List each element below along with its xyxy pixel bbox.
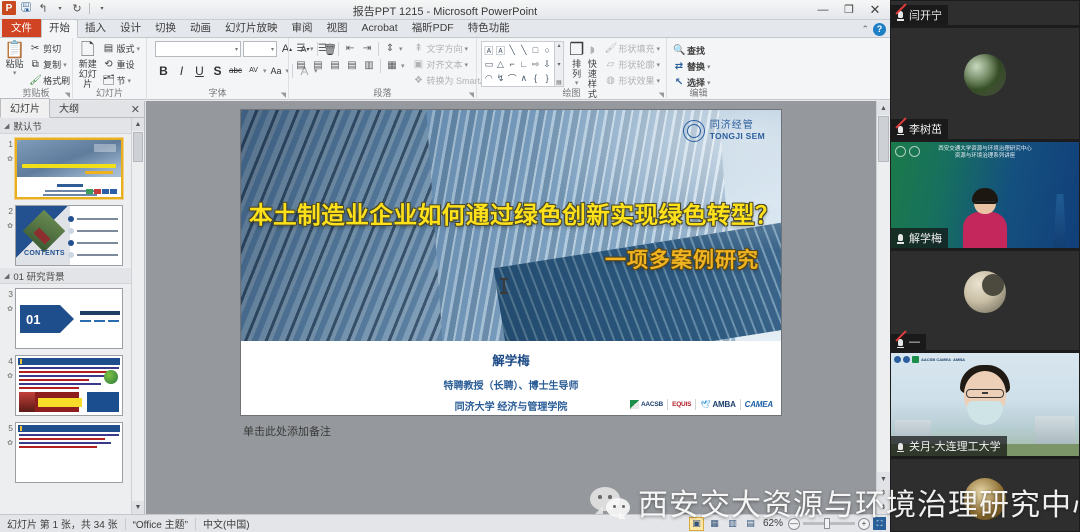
bullets-dropdown-icon[interactable]: ▾: [310, 45, 314, 53]
shapes-gallery[interactable]: 🄰 🄰 ╲ ╲ □ ○ ▭ △ ⌐ ∟ ⇨ ⇩ ◠: [481, 41, 555, 87]
slide-star-icon: ✿: [7, 439, 13, 447]
camea-logo: CAMEA: [745, 400, 773, 409]
paragraph-group-label: 段落: [289, 86, 476, 99]
slide-canvas[interactable]: 同济经管 TONGJI SEM 本土制造业企业如何通过绿色创新实现绿色转型？ 一…: [241, 110, 781, 415]
ribbon-group-drawing: 🄰 🄰 ╲ ╲ □ ○ ▭ △ ⌐ ∟ ⇨ ⇩ ◠: [476, 38, 666, 100]
microphone-muted-icon: [895, 336, 906, 348]
numbering-dropdown-icon[interactable]: ▾: [332, 45, 336, 53]
increase-indent-button[interactable]: ⇥: [359, 41, 375, 56]
slide-subtitle[interactable]: 一项多案例研究: [605, 244, 759, 274]
title-bar: P 🖫 ↰ ▾ ↻ ▾ 报告PPT 1215 - Microsoft Power…: [0, 0, 890, 20]
powerpoint-window: P 🖫 ↰ ▾ ↻ ▾ 报告PPT 1215 - Microsoft Power…: [0, 0, 890, 532]
status-bar: 幻灯片 第 1 张，共 34 张 “Office 主题” 中文(中国) ▣ ▦ …: [0, 514, 890, 532]
font-size-input[interactable]: ▾: [243, 41, 277, 57]
slideshow-icon[interactable]: ▤: [743, 517, 758, 531]
new-slide-icon: 🗋: [81, 41, 95, 59]
reset-label: 重设: [116, 58, 134, 71]
reading-view-icon[interactable]: ▥: [725, 517, 740, 531]
tongji-sem-logo: 同济经管 TONGJI SEM: [683, 120, 765, 142]
find-label: 查找: [687, 44, 705, 57]
replace-button[interactable]: ⇄ 替换 ▾: [671, 59, 713, 74]
stage-line-2: 资源与环境治理系列讲座: [891, 153, 1079, 160]
participant-tile-5[interactable]: AACSB CAMEA AMBA 关月-大连理工大学: [891, 353, 1079, 456]
change-case-button[interactable]: Aa: [268, 62, 285, 79]
slide-thumbnail-1[interactable]: [15, 138, 123, 199]
thumbnail-row[interactable]: 1✿: [0, 134, 131, 201]
font-name-input[interactable]: ▾: [155, 41, 241, 57]
decrease-indent-button[interactable]: ⇤: [342, 41, 358, 56]
participant-nameplate: 李树茁: [891, 119, 948, 139]
columns-button[interactable]: ▦: [384, 58, 400, 73]
participant-tile-3[interactable]: 西安交通大学资源与环境治理研究中心 资源与环境治理系列讲座 解学梅: [891, 142, 1079, 247]
tongji-logo-en: TONGJI SEM: [710, 132, 765, 141]
notes-placeholder[interactable]: 单击此处添加备注: [241, 420, 781, 442]
aacsb-logo: AACSB: [630, 400, 663, 409]
thumb-portrait: [19, 392, 35, 412]
thumb-title-bar: [22, 164, 116, 168]
thumb-body: [19, 434, 119, 479]
ribbon-group-editing: 🔍 查找 ⇄ 替换 ▾ ↖ 选择 ▾: [666, 38, 730, 100]
logo-badge-2: [903, 356, 910, 363]
tab-transitions[interactable]: 切换: [148, 20, 183, 37]
participant-nameplate: 解学梅: [891, 228, 948, 248]
section-name: 01 研究背景: [13, 269, 64, 283]
tab-design[interactable]: 设计: [113, 20, 148, 37]
quick-styles-icon: ◗: [587, 41, 597, 59]
minimize-button[interactable]: —: [810, 0, 836, 19]
thumb-bg: CONTENTS: [16, 206, 122, 265]
presenter-name[interactable]: 解学梅: [241, 350, 781, 369]
microphone-active-icon: [895, 232, 906, 244]
character-spacing-button[interactable]: AV: [245, 62, 262, 79]
replace-label: 替换: [687, 60, 705, 73]
thumb-line-2: [43, 194, 97, 196]
shape-elbow-arrow-icon[interactable]: ∟: [518, 57, 530, 71]
tab-home[interactable]: 开始: [41, 19, 78, 38]
microphone-muted-icon: [895, 123, 906, 135]
thumb-items: [68, 216, 118, 258]
ribbon-group-clipboard: 📋 粘贴 ▾ ✂ 剪切 ⧉ 复制 ▾: [0, 38, 72, 100]
slides-group-label: 幻灯片: [73, 86, 146, 99]
slide-pane-scrollbar[interactable]: ▲ ▼ ⇞ ⇟: [876, 101, 890, 514]
amba-label: AMBA: [712, 400, 735, 409]
drawing-dialog-launcher[interactable]: ◥: [659, 91, 664, 99]
equis-label: EQUIS: [672, 401, 691, 408]
language-status[interactable]: 中文(中国): [196, 515, 257, 532]
equis-logo: EQUIS: [672, 401, 691, 408]
participant-tile-6[interactable]: [891, 459, 1079, 531]
slide-title[interactable]: 本土制造业企业如何通过绿色创新实现绿色转型？: [249, 196, 773, 230]
window-title: 报告PPT 1215 - Microsoft PowerPoint: [0, 3, 890, 19]
outline-pane-tabs[interactable]: 幻灯片 大纲 ✕: [0, 101, 144, 118]
editing-group-label: 编辑: [667, 86, 730, 99]
thumb-heading: [80, 311, 120, 315]
aacsb-label: AACSB: [641, 401, 663, 408]
paste-dropdown-icon[interactable]: ▾: [13, 69, 17, 77]
close-button[interactable]: ✕: [862, 0, 888, 19]
slide-number: 4: [8, 356, 13, 366]
participant-tile-2[interactable]: 李树茁: [891, 28, 1079, 139]
ribbon-group-slides: 🗋 新建 幻灯片 ▤ 版式 ▾ ⟲ 重设: [72, 38, 146, 100]
copy-label: 复制: [43, 58, 61, 71]
thumbnail-pane-scrollbar[interactable]: ▲ ▼: [131, 118, 144, 514]
font-dialog-launcher[interactable]: ◥: [281, 91, 286, 99]
scrollbar-thumb[interactable]: [133, 132, 143, 162]
logo-divider: [695, 399, 696, 410]
cut-label: 剪切: [43, 42, 61, 55]
slide-edit-pane: 同济经管 TONGJI SEM 本土制造业企业如何通过绿色创新实现绿色转型？ 一…: [146, 101, 876, 514]
microphone-active-icon: [895, 440, 906, 452]
character-spacing-dropdown-icon[interactable]: ▾: [263, 67, 267, 75]
columns-dropdown-icon[interactable]: ▾: [401, 62, 405, 70]
participant-name: —: [909, 336, 920, 348]
amba-logo: 🕊 AMBA: [700, 400, 735, 409]
slide-number: 1: [8, 139, 13, 149]
shape-vertical-textbox-icon[interactable]: 🄰: [495, 43, 507, 57]
zoom-in-button[interactable]: +: [858, 518, 870, 530]
shape-left-brace-icon[interactable]: {: [530, 71, 542, 85]
ribbon: 📋 粘贴 ▾ ✂ 剪切 ⧉ 复制 ▾: [0, 38, 890, 100]
shapes-scroll-expand-icon[interactable]: ▤: [556, 79, 562, 86]
participant-name: 解学梅: [909, 230, 942, 246]
shape-rectangle-icon[interactable]: □: [530, 43, 542, 57]
section-header[interactable]: ◢ 默认节: [0, 118, 131, 134]
bold-button[interactable]: B: [155, 62, 172, 79]
copy-button[interactable]: ⧉ 复制 ▾: [27, 57, 72, 72]
participant-name: 李树茁: [909, 121, 942, 137]
logo-divider: [740, 399, 741, 410]
tab-slides-thumbnails[interactable]: 幻灯片: [0, 98, 50, 118]
next-slide-icon[interactable]: ⇟: [877, 500, 890, 514]
align-center-button[interactable]: ▤: [310, 58, 326, 73]
thumb-contents-label: CONTENTS: [24, 250, 65, 257]
aacsb-mark-icon: [630, 400, 639, 409]
align-right-button[interactable]: ▤: [327, 58, 343, 73]
reset-icon: ⟲: [102, 59, 114, 70]
slide-star-icon: ✿: [7, 155, 13, 163]
shape-line-icon[interactable]: ╲: [506, 43, 518, 57]
editor-area: 幻灯片 大纲 ✕ ◢ 默认节 1✿: [0, 101, 890, 514]
slide-number: 5: [8, 423, 13, 433]
slide-star-icon: ✿: [7, 305, 13, 313]
notes-pane[interactable]: 单击此处添加备注: [241, 420, 781, 446]
tab-insert[interactable]: 插入: [78, 20, 113, 37]
scroll-up-icon[interactable]: ▲: [132, 118, 144, 131]
shape-rounded-rect-icon[interactable]: ▭: [483, 57, 495, 71]
thumb-header-accent: [20, 426, 22, 431]
thumbnail-row[interactable]: 2✿ CONTENTS: [0, 201, 131, 268]
para-divider-2: [378, 42, 379, 56]
section-icon: 🗂: [102, 75, 114, 86]
shapes-scroll-more-icon[interactable]: ▾: [557, 61, 560, 68]
window-controls[interactable]: — ❐ ✕: [810, 0, 888, 20]
amba-bird-icon: 🕊: [700, 400, 710, 409]
justify-button[interactable]: ▤: [344, 58, 360, 73]
thumb-bg: [16, 356, 122, 415]
layout-icon: ▤: [102, 43, 114, 54]
new-slide-button[interactable]: 🗋 新建 幻灯片: [77, 41, 98, 89]
shape-elbow-connector-icon[interactable]: ⌐: [506, 57, 518, 71]
section-dropdown-icon[interactable]: ▾: [127, 77, 131, 85]
tab-acrobat[interactable]: Acrobat: [355, 20, 405, 37]
shape-textbox-icon[interactable]: 🄰: [483, 43, 495, 57]
slide-background-photo: 同济经管 TONGJI SEM 本土制造业企业如何通过绿色创新实现绿色转型？ 一…: [241, 110, 781, 341]
slide-thumbnail-pane: 幻灯片 大纲 ✕ ◢ 默认节 1✿: [0, 101, 145, 514]
thumbnail-row[interactable]: 5✿: [0, 418, 131, 485]
help-button[interactable]: ?: [873, 23, 886, 36]
logo-divider: [667, 399, 668, 410]
thumb-header-accent: [20, 359, 22, 364]
zoom-slider-thumb[interactable]: [824, 518, 830, 529]
scissors-icon: ✂: [29, 43, 41, 54]
tab-outline[interactable]: 大纲: [50, 99, 88, 117]
theme-status[interactable]: “Office 主题”: [126, 515, 195, 532]
paste-label: 粘贴: [6, 59, 24, 69]
align-text-label: 对齐文本: [427, 58, 463, 71]
shape-arrow-icon[interactable]: ╲: [518, 43, 530, 57]
layout-label: 版式: [116, 42, 134, 55]
thumbnail-list[interactable]: ◢ 默认节 1✿: [0, 118, 131, 514]
align-text-dropdown-icon[interactable]: ▾: [465, 61, 469, 69]
paste-button[interactable]: 📋 粘贴 ▾: [4, 41, 25, 77]
thumb-bg: [16, 423, 122, 482]
drawing-group-label: 绘图: [477, 86, 666, 99]
shape-scribble-icon[interactable]: ↯: [495, 71, 507, 85]
tab-review[interactable]: 审阅: [285, 20, 320, 37]
shape-triangle-icon[interactable]: △: [495, 57, 507, 71]
strikethrough-button[interactable]: abc: [227, 62, 244, 79]
shape-outline-icon: ▱: [604, 59, 616, 70]
participant-nameplate: —: [891, 334, 926, 350]
close-pane-icon[interactable]: ✕: [131, 103, 140, 116]
thumb-section-number: 01: [26, 312, 40, 327]
camea-label: CAMEA: [745, 400, 773, 409]
shape-right-arrow-icon[interactable]: ⇨: [530, 57, 542, 71]
shape-curve-icon[interactable]: ⌒: [506, 71, 518, 85]
logo-badge-1: [894, 356, 901, 363]
replace-dropdown-icon[interactable]: ▾: [707, 63, 711, 71]
paintbrush-icon: 🖌: [29, 75, 41, 86]
scroll-down-icon[interactable]: ▼: [132, 501, 144, 514]
stage-tower-graphic: [1049, 194, 1071, 248]
replace-icon: ⇄: [673, 61, 685, 72]
shape-outline-button[interactable]: ▱ 形状轮廓 ▾: [602, 57, 662, 72]
zoom-level: 62%: [763, 518, 783, 529]
italic-button[interactable]: I: [173, 62, 190, 79]
zoom-out-button[interactable]: —: [788, 518, 800, 530]
participant-tile-1[interactable]: 闫开宁: [891, 1, 1079, 25]
arrange-label: 排列: [569, 59, 584, 79]
tab-special-features[interactable]: 特色功能: [461, 20, 517, 37]
ribbon-tab-strip[interactable]: 文件 开始 插入 设计 切换 动画 幻灯片放映 审阅 视图 Acrobat 福昕…: [0, 20, 890, 38]
thumb-subtitle-bar: [85, 171, 113, 174]
thumb-logo-2: [94, 189, 101, 194]
tab-foxit-pdf[interactable]: 福昕PDF: [405, 20, 461, 37]
zoom-slider[interactable]: [803, 522, 855, 525]
shapes-gallery-scrollbar[interactable]: ▴ ▾ ▤: [555, 41, 564, 87]
tab-file[interactable]: 文件: [2, 19, 41, 37]
thumb-header: [18, 358, 120, 365]
distribute-button[interactable]: ▥: [361, 58, 377, 73]
align-text-icon: ▣: [413, 59, 425, 70]
find-button[interactable]: 🔍 查找: [671, 43, 713, 58]
thumb-arrow: 01: [20, 305, 74, 333]
speaker-silhouette: [962, 190, 1008, 248]
slide-thumbnail-4[interactable]: [15, 355, 123, 416]
previous-slide-icon[interactable]: ⇞: [877, 486, 890, 500]
tab-animations[interactable]: 动画: [183, 20, 218, 37]
logo-badge-3: [912, 356, 919, 363]
font-group-label: 字体: [147, 86, 288, 99]
slide-thumbnail-5[interactable]: [15, 422, 123, 483]
thumb-bg: 01: [16, 289, 122, 348]
layout-button[interactable]: ▤ 版式 ▾: [100, 41, 142, 56]
section-collapse-triangle-icon[interactable]: ◢: [4, 272, 9, 280]
shape-down-arrow-icon[interactable]: ⇩: [541, 57, 553, 71]
shape-outline-label: 形状轮廓: [618, 58, 654, 71]
thumb-name-bar: [57, 184, 83, 187]
line-spacing-dropdown-icon[interactable]: ▾: [399, 45, 403, 53]
font-name-chevron-down-icon[interactable]: ▾: [235, 46, 238, 53]
shapes-scroll-up-icon[interactable]: ▴: [557, 42, 560, 49]
text-direction-icon: ⇞: [413, 43, 425, 54]
new-slide-label-1: 新建: [79, 59, 97, 69]
accreditation-logos: AACSB EQUIS 🕊 AMBA: [630, 399, 773, 410]
para-divider-1: [338, 42, 339, 56]
thumbnail-row[interactable]: 4✿: [0, 351, 131, 418]
thumb-logo-3: [102, 189, 109, 194]
layout-dropdown-icon[interactable]: ▾: [136, 45, 140, 53]
thumb-logo: [94, 144, 116, 152]
section-header[interactable]: ◢ 01 研究背景: [0, 268, 131, 284]
shape-effects-icon: ◍: [604, 75, 616, 86]
slide-star-icon: ✿: [7, 372, 13, 380]
ribbon-group-font: ▾ ▾ A▴ A▾ 🗑 B I U: [146, 38, 288, 100]
slide-sorter-icon[interactable]: ▦: [707, 517, 722, 531]
restore-button[interactable]: ❐: [836, 0, 862, 19]
stage-banner-text: 西安交通大学资源与环境治理研究中心 资源与环境治理系列讲座: [891, 146, 1079, 160]
tongji-seal-icon: [683, 120, 705, 142]
shape-ellipse-icon[interactable]: ○: [541, 43, 553, 57]
slide-number: 3: [8, 289, 13, 299]
virtual-bg-logos: AACSB CAMEA AMBA: [894, 356, 965, 363]
thumb-accred-logos: [86, 189, 117, 194]
screen-root: P 🖫 ↰ ▾ ↻ ▾ 报告PPT 1215 - Microsoft Power…: [0, 0, 1080, 532]
shape-right-brace-icon[interactable]: }: [541, 71, 553, 85]
text-cursor-icon: [503, 278, 505, 294]
arrange-button[interactable]: ❐ 排列 ▾: [569, 41, 584, 87]
shape-fill-dropdown-icon[interactable]: ▾: [656, 45, 660, 53]
shape-freeform-icon[interactable]: ◠: [483, 71, 495, 85]
video-participant-panel: 闫开宁 李树茁 西安交通大学资源与环境治理研究中心 资源与环境治理系列讲座: [890, 0, 1080, 532]
paragraph-dialog-launcher[interactable]: ◥: [469, 91, 474, 99]
scrollbar-thumb[interactable]: [878, 116, 889, 162]
clipboard-dialog-launcher[interactable]: ◥: [65, 91, 70, 99]
participant-name: 关月-大连理工大学: [909, 438, 1001, 454]
numbering-button[interactable]: ☰: [315, 41, 331, 56]
text-direction-dropdown-icon[interactable]: ▾: [465, 45, 469, 53]
underline-button[interactable]: U: [191, 62, 208, 79]
smartart-icon: ❖: [413, 75, 425, 86]
clipboard-icon: 📋: [4, 41, 25, 59]
avatar: [964, 478, 1006, 520]
minimize-ribbon-icon[interactable]: ⌃: [861, 24, 869, 35]
slide-canvas-wrap: 同济经管 TONGJI SEM 本土制造业企业如何通过绿色创新实现绿色转型？ 一…: [241, 110, 781, 446]
participant-nameplate: 关月-大连理工大学: [891, 436, 1007, 456]
copy-icon: ⧉: [29, 59, 41, 70]
binoculars-icon: 🔍: [673, 45, 685, 56]
text-direction-label: 文字方向: [427, 42, 463, 55]
slide-star-icon: ✿: [7, 222, 13, 230]
slide-thumbnail-3[interactable]: 01: [15, 288, 123, 349]
thumb-header: [18, 425, 120, 432]
tab-view[interactable]: 视图: [320, 20, 355, 37]
avatar: [964, 271, 1006, 313]
thumb-highlight: [38, 398, 82, 407]
shape-outline-dropdown-icon[interactable]: ▾: [656, 61, 660, 69]
slide-number: 2: [8, 206, 13, 216]
normal-view-icon[interactable]: ▣: [689, 517, 704, 531]
thumb-globe-icon: [104, 370, 118, 384]
shape-fill-icon: 🖌: [604, 43, 616, 54]
ribbon-help-row[interactable]: ⌃ ?: [861, 20, 886, 38]
thumb-blue-box: [87, 392, 119, 412]
ribbon-group-paragraph: ☰▾ ☰▾ ⇤ ⇥ ⇕▾ ▤ ▤ ▤ ▤: [288, 38, 476, 100]
bullets-button[interactable]: ☰: [293, 41, 309, 56]
scroll-down-icon[interactable]: ▼: [877, 472, 890, 486]
shape-effects-dropdown-icon[interactable]: ▾: [656, 77, 660, 85]
copy-dropdown-icon[interactable]: ▾: [63, 61, 67, 69]
thumb-tags: [80, 320, 119, 322]
logo-text: AACSB CAMEA: [921, 357, 951, 362]
arrange-icon: ❐: [569, 41, 584, 59]
shape-arc-icon[interactable]: ∧: [518, 71, 530, 85]
fit-to-window-icon[interactable]: ⛶: [873, 517, 886, 530]
presenter-role[interactable]: 特聘教授（长聘）、博士生导师: [241, 377, 781, 392]
thumb-logo-4: [110, 189, 117, 194]
logo-text-2: AMBA: [953, 357, 965, 362]
tab-slideshow[interactable]: 幻灯片放映: [218, 20, 285, 37]
font-size-chevron-down-icon[interactable]: ▾: [271, 46, 274, 53]
slide-count-status: 幻灯片 第 1 张，共 34 张: [0, 515, 125, 532]
scroll-up-icon[interactable]: ▲: [877, 101, 890, 115]
participant-tile-4[interactable]: —: [891, 251, 1079, 350]
para-divider-3: [380, 59, 381, 73]
slide-thumbnail-2[interactable]: CONTENTS: [15, 205, 123, 266]
line-spacing-button[interactable]: ⇕: [382, 41, 398, 56]
microphone-muted-icon: [895, 9, 906, 21]
text-shadow-button[interactable]: S: [209, 62, 226, 79]
participant-name: 闫开宁: [909, 7, 942, 23]
slide-footer-block: 解学梅 特聘教授（长聘）、博士生导师 同济大学 经济与管理学院 AACSB: [241, 341, 781, 415]
align-left-button[interactable]: ▤: [293, 58, 309, 73]
status-right-cluster: ▣ ▦ ▥ ▤ 62% — + ⛶: [689, 517, 890, 531]
cut-button[interactable]: ✂ 剪切: [27, 41, 72, 56]
shape-fill-label: 形状填充: [618, 42, 654, 55]
section-name: 默认节: [13, 119, 42, 133]
section-collapse-triangle-icon[interactable]: ◢: [4, 122, 9, 130]
thumbnail-row[interactable]: 3✿ 01: [0, 284, 131, 351]
shape-fill-button[interactable]: 🖌 形状填充 ▾: [602, 41, 662, 56]
thumb-logo-1: [86, 189, 93, 194]
avatar: [964, 54, 1006, 96]
participant-nameplate: 闫开宁: [891, 5, 948, 25]
reset-button[interactable]: ⟲ 重设: [100, 57, 142, 72]
